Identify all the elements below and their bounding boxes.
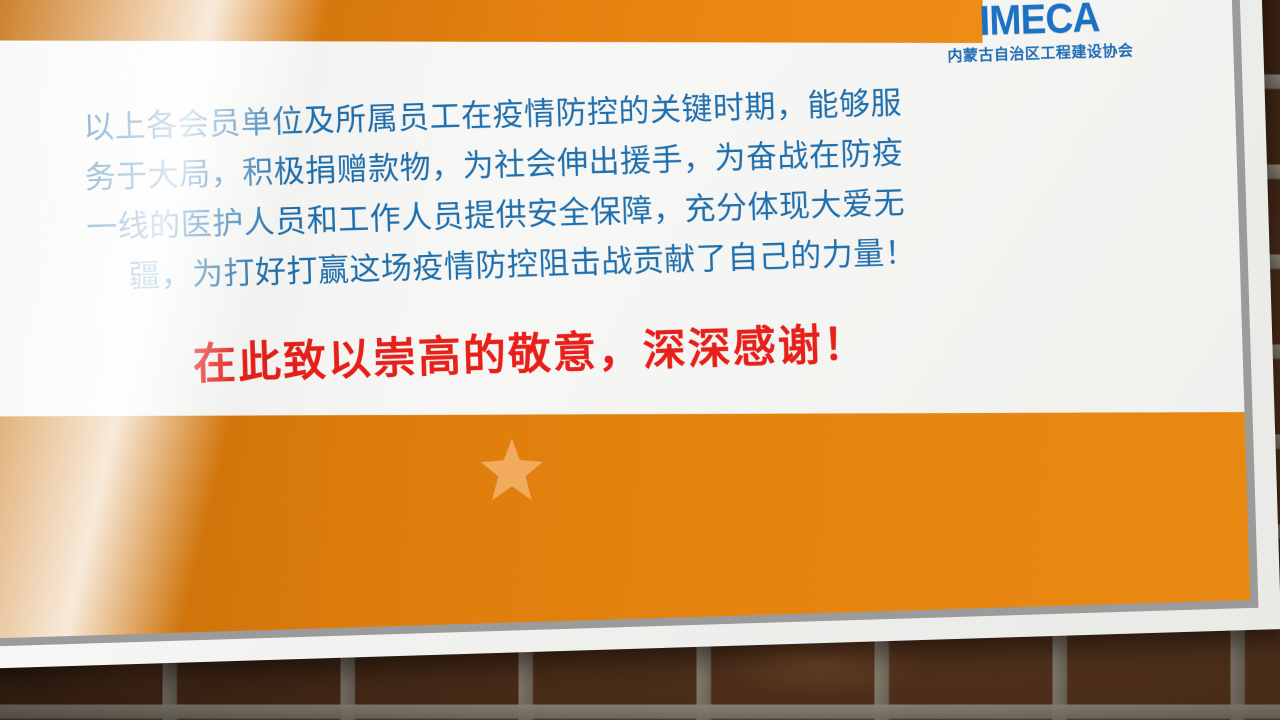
logo-subtitle: 内蒙古自治区工程建设协会: [947, 44, 1133, 65]
card-content-sheet: IMECA 内蒙古自治区工程建设协会 以上各会员单位及所属员工在疫情防控的关键时…: [0, 0, 1250, 639]
slide-canvas: IMECA 内蒙古自治区工程建设协会 以上各会员单位及所属员工在疫情防控的关键时…: [0, 0, 1280, 720]
orange-band-top: [0, 0, 983, 43]
imeca-logo: IMECA 内蒙古自治区工程建设协会: [946, 0, 1134, 65]
logo-wordmark: IMECA: [953, 0, 1125, 43]
body-paragraph: 以上各会员单位及所属员工在疫情防控的关键时期，能够服 务于大局，积极捐赠款物，为…: [83, 77, 969, 304]
thanks-headline: 在此致以崇高的敬意，深深感谢！: [90, 312, 971, 399]
slide-card: IMECA 内蒙古自治区工程建设协会 以上各会员单位及所属员工在疫情防控的关键时…: [0, 0, 1280, 670]
orange-band-bottom: [0, 412, 1250, 639]
